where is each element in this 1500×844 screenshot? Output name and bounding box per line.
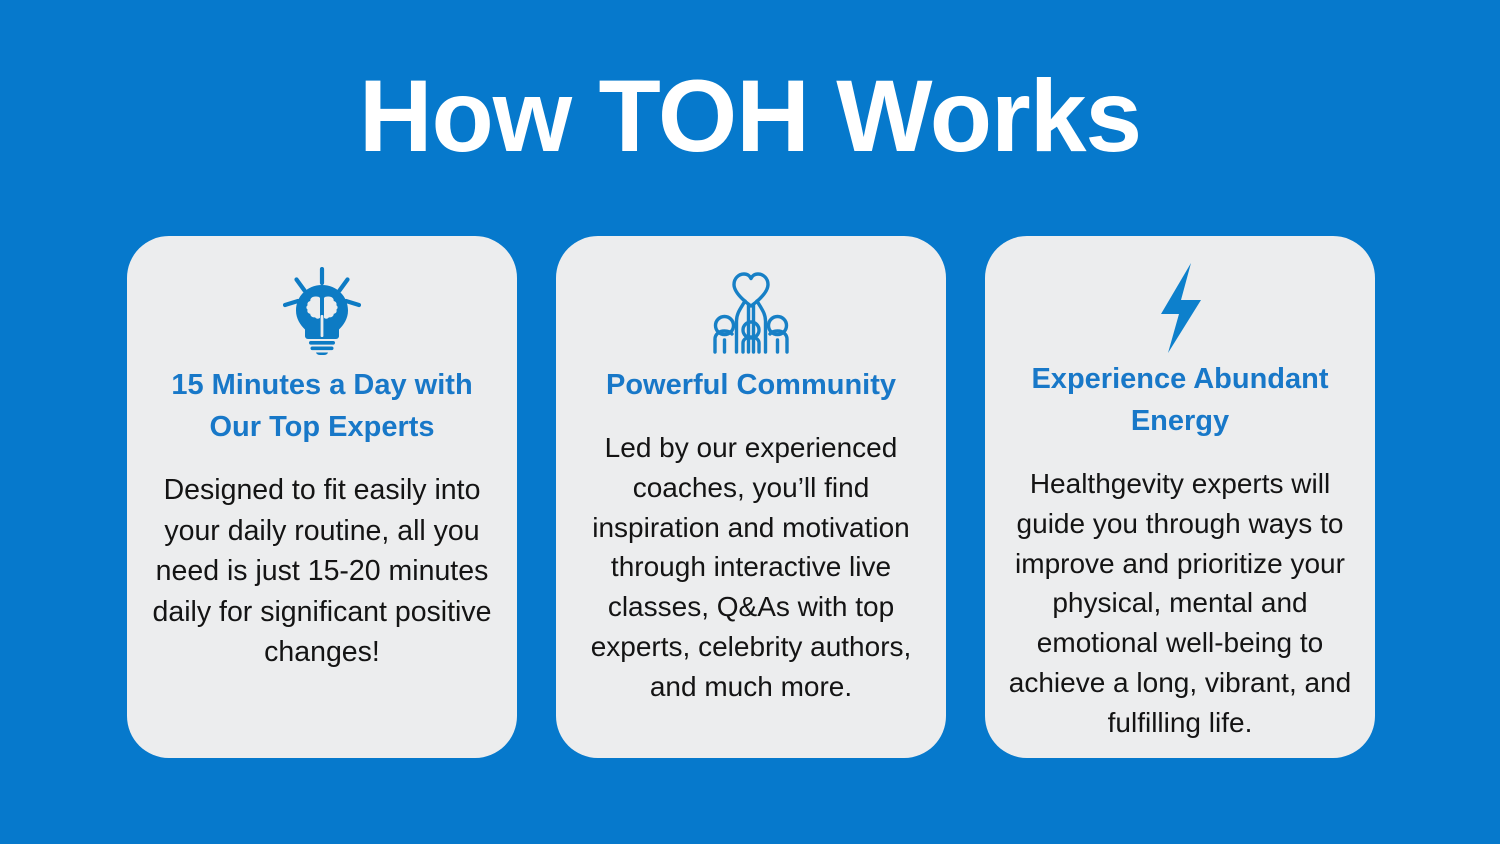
feature-card-15-minutes[interactable]: 15 Minutes a Day with Our Top Experts De… xyxy=(127,236,517,758)
page-title: How TOH Works xyxy=(0,56,1500,176)
feature-card-title: 15 Minutes a Day with Our Top Experts xyxy=(149,364,495,448)
feature-card-list: 15 Minutes a Day with Our Top Experts De… xyxy=(127,236,1375,758)
feature-card-energy[interactable]: Experience Abundant Energy Healthgevity … xyxy=(985,236,1375,758)
community-heart-icon xyxy=(703,262,799,360)
lightbulb-brain-icon xyxy=(283,262,361,360)
feature-card-title: Powerful Community xyxy=(606,364,896,406)
slide-canvas: How TOH Works xyxy=(0,0,1500,844)
feature-card-body: Designed to fit easily into your daily r… xyxy=(149,470,495,672)
feature-card-body: Healthgevity experts will guide you thro… xyxy=(1007,464,1353,742)
feature-card-community[interactable]: Powerful Community Led by our experience… xyxy=(556,236,946,758)
feature-card-body: Led by our experienced coaches, you’ll f… xyxy=(578,428,924,706)
lightning-bolt-icon xyxy=(1149,262,1211,354)
feature-card-title: Experience Abundant Energy xyxy=(1007,358,1353,442)
